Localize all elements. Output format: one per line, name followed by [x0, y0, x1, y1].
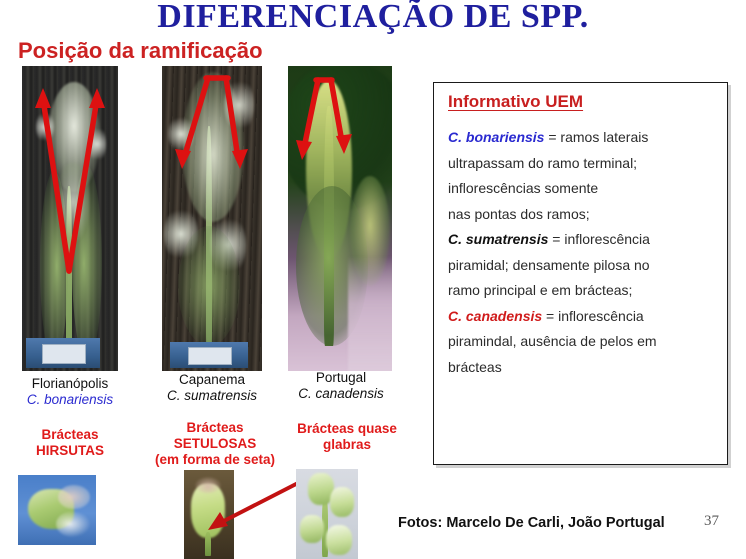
- bract-head-right: [330, 487, 354, 517]
- plant-foliage-lower: [178, 226, 240, 346]
- info-line: C. bonariensis = ramos laterais: [448, 125, 719, 151]
- info-line: piramidal; densamente pilosa no: [448, 253, 719, 279]
- info-box-title: Informativo UEM: [448, 92, 583, 112]
- seed-fluff: [56, 511, 90, 537]
- info-line-text: = inflorescência: [542, 308, 644, 324]
- caption-species: C. bonariensis: [10, 392, 130, 408]
- info-line-text: piramindal, ausência de pelos em: [448, 333, 657, 349]
- bract-caption-line-2: SETULOSAS: [147, 436, 283, 452]
- caption-location: Florianópolis: [32, 376, 109, 391]
- inflorescence-mid: [56, 162, 90, 242]
- species-name: C. canadensis: [448, 308, 542, 324]
- info-line-text: brácteas: [448, 359, 502, 375]
- info-line: C. canadensis = inflorescência: [448, 304, 719, 330]
- info-line-text: nas pontas dos ramos;: [448, 206, 590, 222]
- florianopolis-photo: [22, 66, 118, 371]
- flower-cluster-left: [36, 110, 54, 144]
- info-line-text: piramidal; densamente pilosa no: [448, 257, 650, 273]
- info-line: ramo principal e em brácteas;: [448, 278, 719, 304]
- page-number: 37: [704, 513, 719, 530]
- flower-cluster-right: [88, 124, 106, 164]
- info-line-text: inflorescências somente: [448, 180, 598, 196]
- info-line-text: = ramos laterais: [544, 129, 648, 145]
- info-line: nas pontas dos ramos;: [448, 202, 719, 228]
- bract-closeup-hirsutas: [18, 475, 96, 545]
- ground-path: [348, 256, 392, 371]
- flower-cluster-right-upper: [224, 76, 254, 134]
- caption-florianopolis: Florianópolis C. bonariensis: [10, 376, 130, 408]
- info-box-lines: C. bonariensis = ramos laterais ultrapas…: [448, 125, 719, 380]
- page-subtitle: Posição da ramificação: [18, 38, 263, 64]
- caption-location: Capanema: [179, 372, 245, 387]
- portugal-photo: [288, 66, 392, 371]
- info-line-text: = inflorescência: [548, 231, 650, 247]
- photo-credits: Fotos: Marcelo De Carli, João Portugal: [398, 515, 665, 531]
- specimen-label-card: [42, 344, 86, 364]
- page-title: DIFERENCIAÇÃO DE SPP.: [0, 0, 746, 36]
- caption-species: C. canadensis: [281, 386, 401, 402]
- bract-caption-setulosas: Brácteas SETULOSAS (em forma de seta): [147, 420, 283, 468]
- flower-cluster-left-upper: [168, 114, 194, 154]
- info-line: ultrapassam do ramo terminal;: [448, 151, 719, 177]
- bract-head-left: [300, 515, 324, 543]
- pappus-tuft: [58, 485, 90, 509]
- caption-species: C. sumatrensis: [152, 388, 272, 404]
- bract-caption-line-1: Brácteas: [10, 427, 130, 443]
- info-line-text: ramo principal e em brácteas;: [448, 282, 632, 298]
- bract-caption-line-1: Brácteas: [147, 420, 283, 436]
- informativo-uem-box: Informativo UEM C. bonariensis = ramos l…: [433, 82, 728, 465]
- bract-caption-line-3: (em forma de seta): [147, 452, 283, 468]
- caption-capanema: Capanema C. sumatrensis: [152, 372, 272, 404]
- capanema-photo: [162, 66, 262, 371]
- species-name: C. sumatrensis: [448, 231, 548, 247]
- info-line: C. sumatrensis = inflorescência: [448, 227, 719, 253]
- info-line: brácteas: [448, 355, 719, 381]
- bract-head-bottom: [326, 525, 352, 555]
- species-name: C. bonariensis: [448, 129, 544, 145]
- info-line-text: ultrapassam do ramo terminal;: [448, 155, 637, 171]
- bract-caption-line-2: glabras: [283, 437, 411, 453]
- specimen-label-card: [188, 347, 232, 365]
- bract-caption-line-1: Brácteas quase: [283, 421, 411, 437]
- caption-location: Portugal: [316, 370, 366, 385]
- caption-portugal: Portugal C. canadensis: [281, 370, 401, 402]
- bract-caption-glabras: Brácteas quase glabras: [283, 421, 411, 453]
- bract-closeup-glabras: [296, 469, 358, 559]
- bract-caption-line-2: HIRSUTAS: [10, 443, 130, 459]
- setulosas-pointer-arrow: [196, 476, 312, 540]
- info-line: piramindal, ausência de pelos em: [448, 329, 719, 355]
- info-line: inflorescências somente: [448, 176, 719, 202]
- bract-caption-hirsutas: Brácteas HIRSUTAS: [10, 427, 130, 459]
